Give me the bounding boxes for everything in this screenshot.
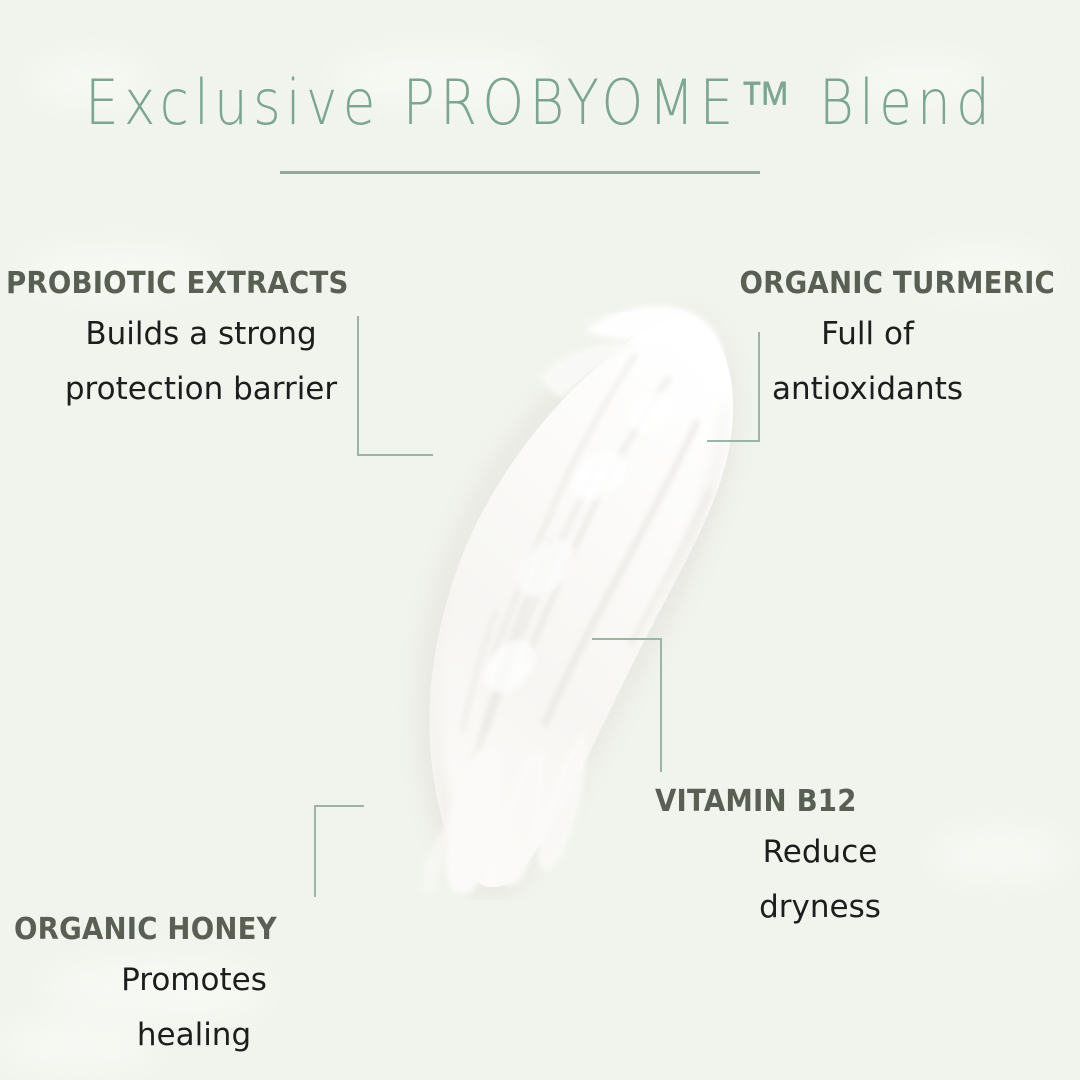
callout-description-line: Full of xyxy=(680,307,1055,362)
callout-description-honey: Promotes healing xyxy=(14,953,374,1063)
callout-description-line: Promotes xyxy=(14,953,374,1008)
callout-description-line: Builds a strong xyxy=(6,307,396,362)
callout-description-line: antioxidants xyxy=(680,362,1055,417)
callout-description-line: Reduce xyxy=(655,825,985,880)
callout-description-vitamin: Reduce dryness xyxy=(655,825,985,935)
callout-heading-turmeric: ORGANIC TURMERIC xyxy=(710,266,1055,301)
ingredient-infographic: Exclusive PROBYOME™ Blend xyxy=(0,0,1080,1080)
callout-description-line: healing xyxy=(14,1008,374,1063)
callout-description-turmeric: Full of antioxidants xyxy=(680,307,1055,417)
callout-heading-probiotic: PROBIOTIC EXTRACTS xyxy=(6,266,365,301)
callout-heading-honey: ORGANIC HONEY xyxy=(14,912,345,947)
callout-heading-vitamin: VITAMIN B12 xyxy=(655,784,959,819)
callout-probiotic-extracts: PROBIOTIC EXTRACTS Builds a strong prote… xyxy=(6,266,396,417)
callout-description-line: dryness xyxy=(655,880,985,935)
callout-organic-turmeric: ORGANIC TURMERIC Full of antioxidants xyxy=(680,266,1055,417)
callout-organic-honey: ORGANIC HONEY Promotes healing xyxy=(14,912,374,1063)
callout-description-probiotic: Builds a strong protection barrier xyxy=(6,307,396,417)
callout-vitamin-b12: VITAMIN B12 Reduce dryness xyxy=(655,784,985,935)
callout-description-line: protection barrier xyxy=(6,362,396,417)
